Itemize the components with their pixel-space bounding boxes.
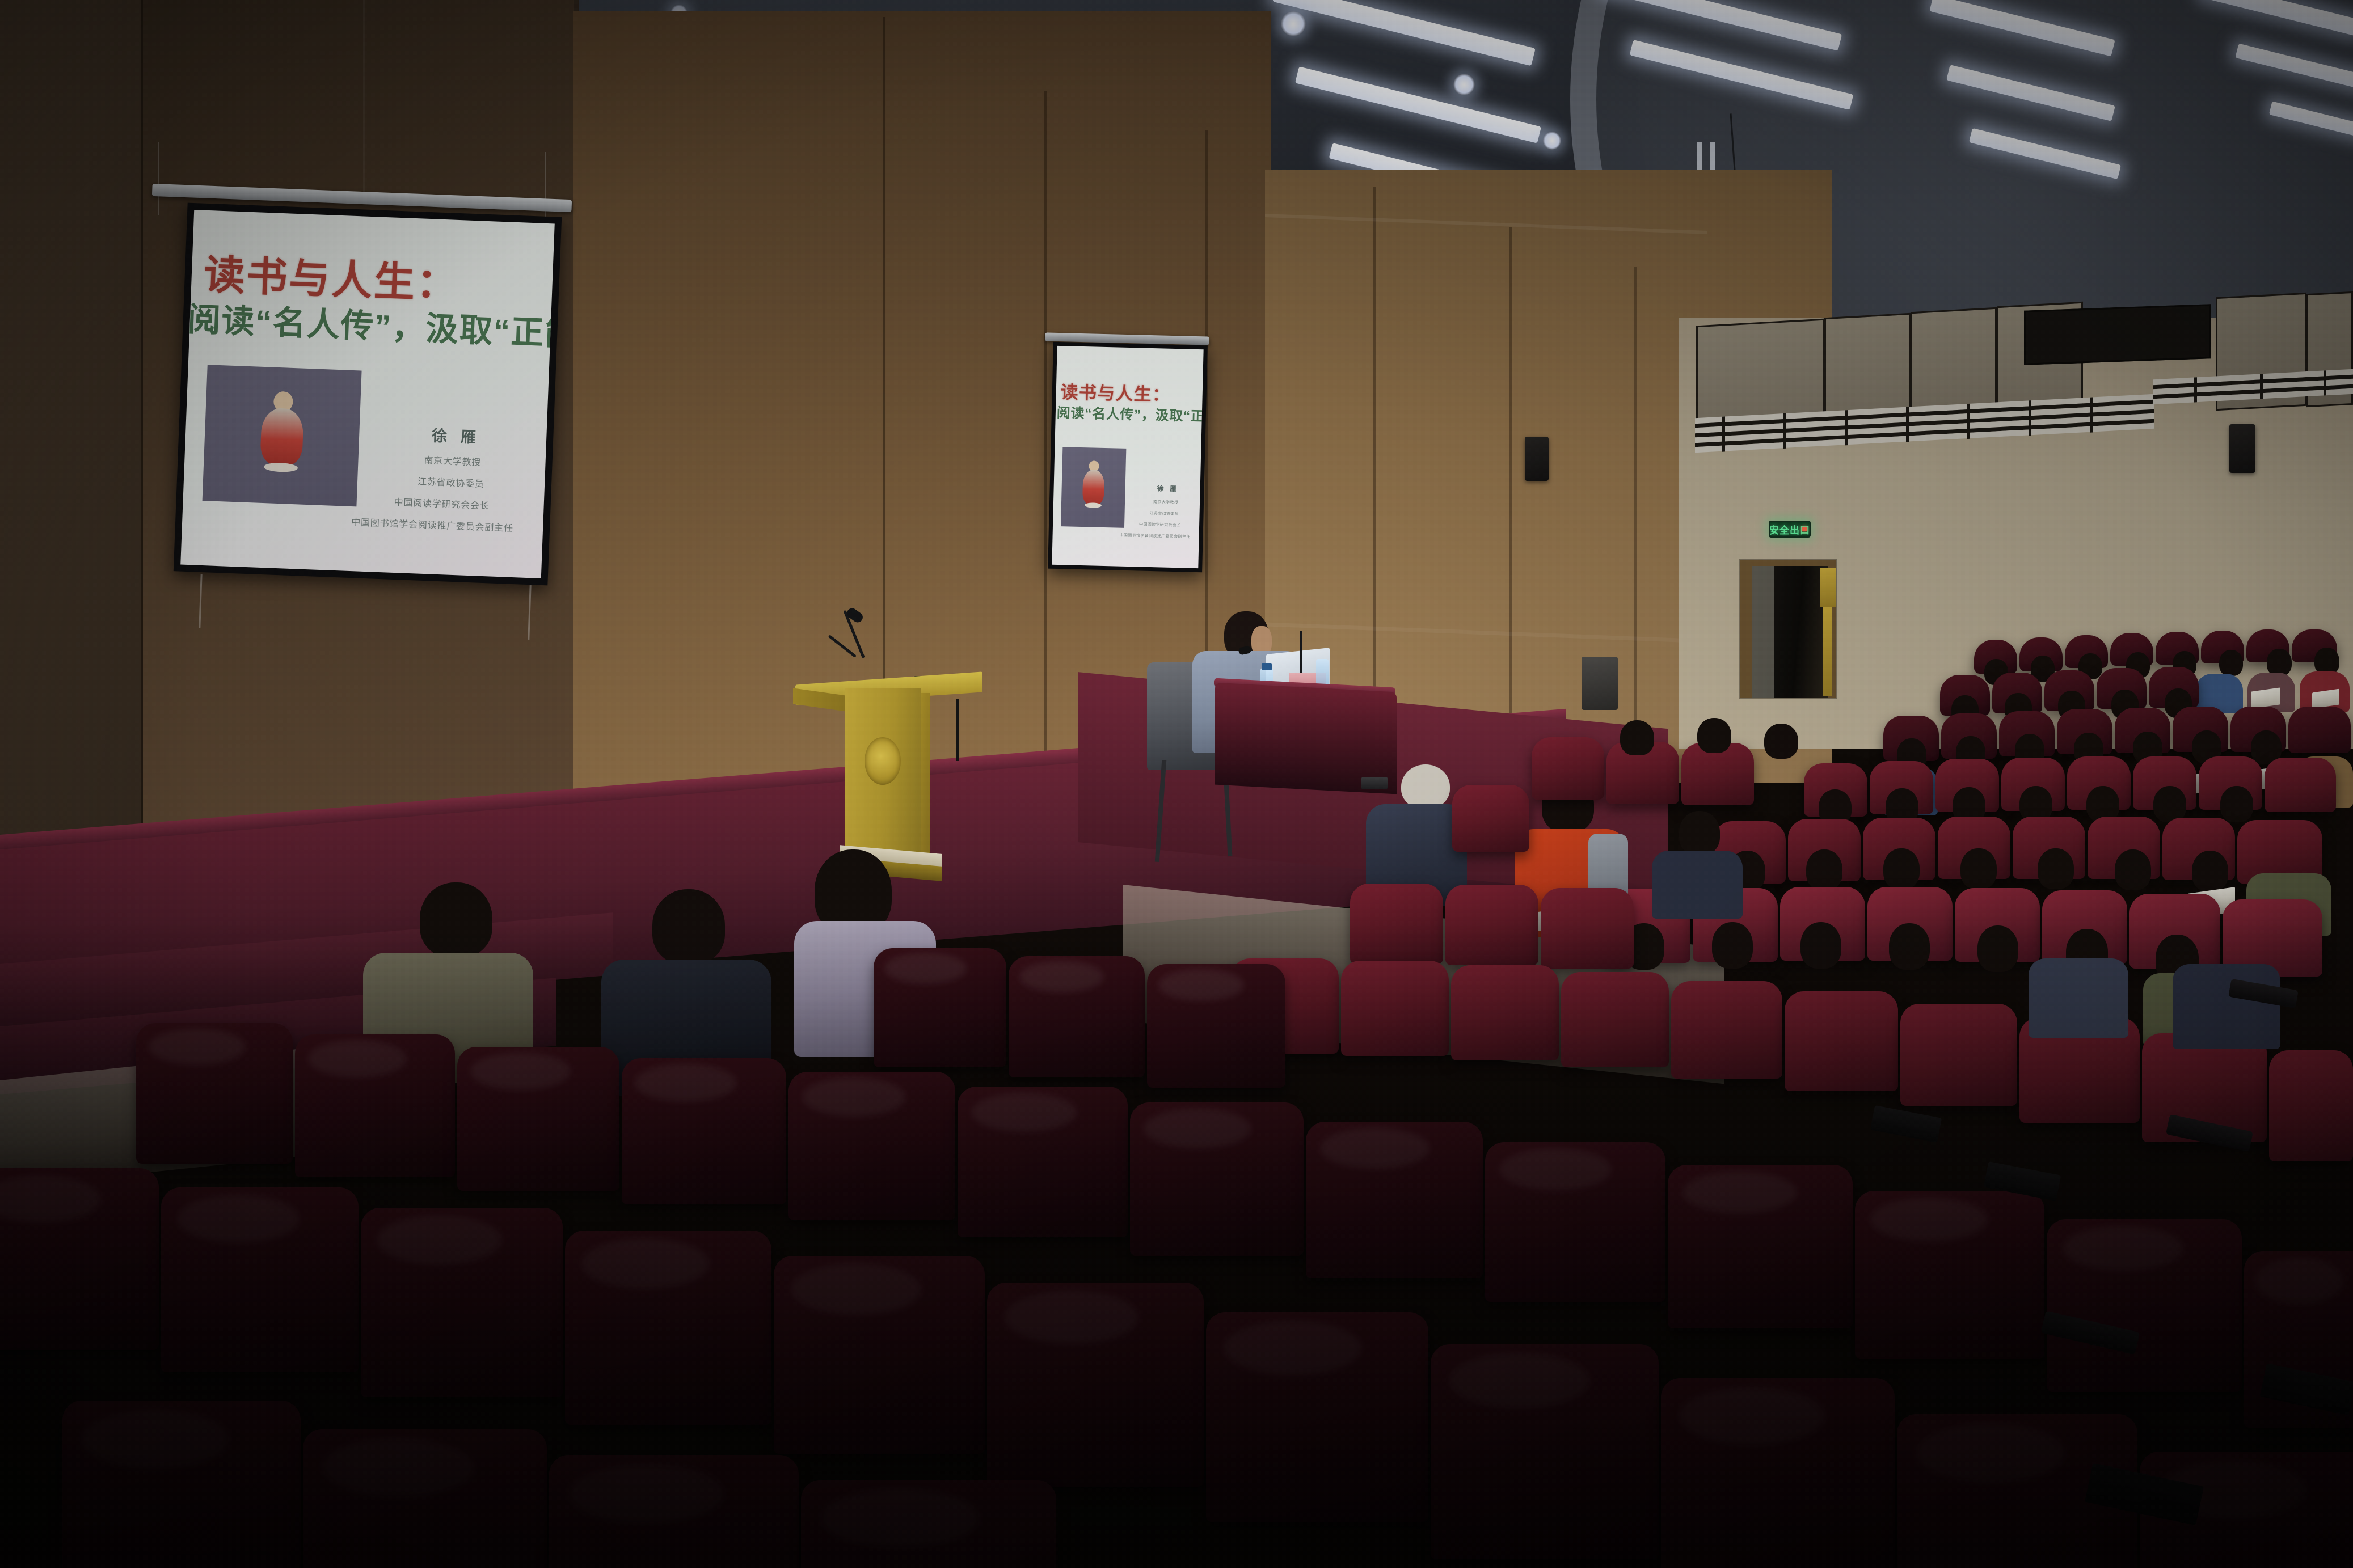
seat-highlight: [635, 1064, 737, 1102]
seat-highlight: [791, 1263, 922, 1315]
seat-highlight: [1019, 961, 1104, 993]
auditorium-photo: 读书与人生： 阅读“名人传”，汲取“正能量” 徐 雁 南京大学教授 江苏省政协委…: [0, 0, 2353, 1568]
seat[interactable]: [1147, 964, 1285, 1088]
seat[interactable]: [549, 1455, 799, 1568]
seat[interactable]: [1452, 785, 1529, 852]
seat[interactable]: [2265, 758, 2336, 812]
seat[interactable]: [2269, 1050, 2353, 1161]
seat[interactable]: [1445, 885, 1538, 965]
seat[interactable]: [2047, 1219, 2242, 1392]
seat[interactable]: [1009, 956, 1145, 1077]
audience-head: [1620, 720, 1654, 755]
seat[interactable]: [565, 1231, 771, 1425]
seat[interactable]: [1431, 1344, 1659, 1559]
audience-body: [2173, 964, 2280, 1049]
audience-head: [652, 889, 725, 964]
seat[interactable]: [874, 948, 1006, 1067]
seat-highlight: [2063, 1226, 2183, 1271]
seat-highlight: [1682, 1172, 1797, 1214]
audience-body: [1652, 851, 1743, 919]
audience-head: [420, 882, 492, 957]
seat[interactable]: [1671, 981, 1782, 1079]
audience-head: [1800, 922, 1841, 969]
seat[interactable]: [1451, 965, 1559, 1060]
seat[interactable]: [303, 1429, 547, 1568]
seat-highlight: [2255, 1258, 2343, 1304]
seat[interactable]: [1130, 1102, 1304, 1256]
seat-highlight: [971, 1093, 1077, 1132]
seat[interactable]: [788, 1072, 955, 1220]
seat-highlight: [377, 1215, 502, 1265]
audience-head: [1977, 925, 2018, 972]
audience-head: [2192, 851, 2228, 891]
seat[interactable]: [1855, 1191, 2044, 1359]
seat-highlight: [1320, 1128, 1429, 1169]
seat[interactable]: [136, 1023, 293, 1164]
audience-seating: [0, 0, 2353, 1568]
audience-head: [1883, 848, 1920, 889]
audience-head: [1806, 849, 1842, 890]
seat-pedestal: [1870, 1105, 1942, 1143]
seat-highlight: [149, 1029, 246, 1065]
seat-highlight: [1680, 1387, 1824, 1445]
seat[interactable]: [1341, 961, 1449, 1056]
audience-head: [2153, 786, 2186, 822]
seat-highlight: [177, 1195, 300, 1243]
seat-highlight: [1916, 1423, 2065, 1482]
seat[interactable]: [1900, 1004, 2017, 1106]
seat-highlight: [1870, 1198, 1988, 1241]
seat-highlight: [470, 1053, 571, 1090]
seat[interactable]: [622, 1058, 786, 1204]
seat[interactable]: [1306, 1122, 1483, 1278]
seat-highlight: [1005, 1291, 1139, 1344]
seat[interactable]: [801, 1480, 1056, 1568]
seat[interactable]: [2288, 707, 2351, 753]
audience-head: [1712, 922, 1753, 969]
seat-highlight: [1144, 1109, 1251, 1148]
seat-highlight: [82, 1410, 229, 1469]
seat[interactable]: [1541, 888, 1634, 969]
seat[interactable]: [1532, 737, 1604, 800]
seat-highlight: [308, 1040, 407, 1077]
seat-highlight: [1499, 1148, 1611, 1190]
audience-body: [2029, 958, 2128, 1038]
audience-head: [1697, 718, 1731, 753]
seat[interactable]: [987, 1283, 1204, 1487]
audience-head: [2115, 849, 2151, 890]
seat-highlight: [802, 1077, 905, 1116]
seat[interactable]: [1661, 1378, 1895, 1568]
seat[interactable]: [1206, 1312, 1428, 1522]
audience-head: [2314, 648, 2339, 675]
seat[interactable]: [1668, 1165, 1853, 1328]
seat-highlight: [821, 1489, 980, 1548]
seat[interactable]: [774, 1256, 985, 1454]
seat[interactable]: [62, 1401, 301, 1568]
seat-highlight: [1449, 1353, 1590, 1409]
seat-highlight: [569, 1464, 724, 1523]
seat[interactable]: [161, 1187, 359, 1372]
seat-highlight: [1158, 969, 1244, 1001]
seat[interactable]: [1561, 972, 1669, 1067]
audience-head: [1679, 811, 1720, 855]
seat[interactable]: [295, 1034, 455, 1177]
seat[interactable]: [361, 1208, 563, 1397]
audience-head: [1764, 724, 1798, 759]
audience-head: [2219, 650, 2243, 676]
seat[interactable]: [1785, 991, 1898, 1091]
audience-head: [1889, 923, 1930, 970]
seat-highlight: [884, 953, 967, 984]
seat[interactable]: [457, 1047, 619, 1191]
seat-highlight: [1224, 1321, 1361, 1375]
audience-head: [1960, 848, 1997, 889]
seat[interactable]: [0, 1168, 159, 1350]
seat-highlight: [581, 1239, 710, 1289]
audience-head-white-hair: [1401, 764, 1450, 809]
seat-highlight: [0, 1176, 101, 1223]
audience-head: [2220, 786, 2253, 822]
seat[interactable]: [1485, 1142, 1665, 1302]
seat[interactable]: [1350, 884, 1443, 964]
audience-head: [2267, 649, 2292, 676]
audience-head: [2038, 848, 2074, 889]
seat[interactable]: [958, 1087, 1128, 1237]
seat-highlight: [322, 1438, 474, 1497]
